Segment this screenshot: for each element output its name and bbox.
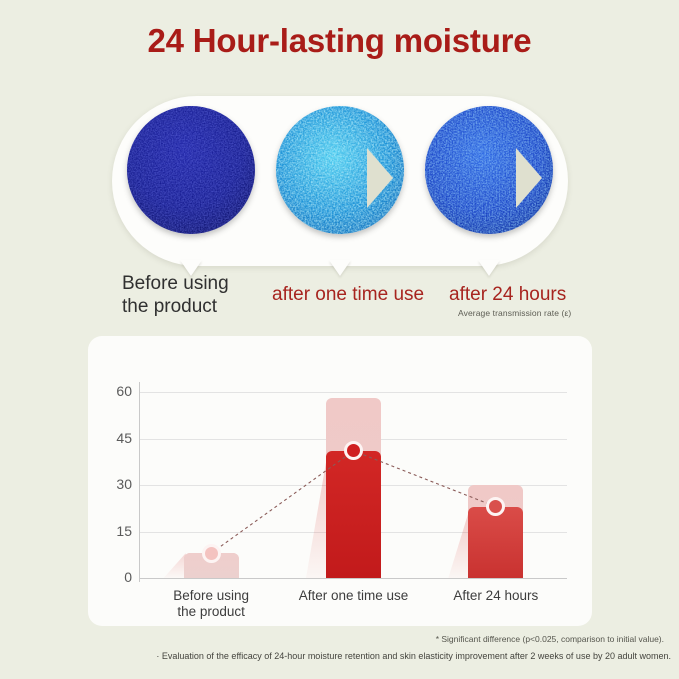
y-tick-label-30: 30 <box>92 476 132 492</box>
y-tick-label-45: 45 <box>92 430 132 446</box>
caption-before-line1: Before using <box>122 272 282 295</box>
photo-captions: Before using the product after one time … <box>0 272 679 334</box>
x-label-line2-0: the product <box>136 604 286 620</box>
y-axis-line <box>139 382 140 582</box>
photo-circles-row <box>112 96 568 266</box>
gridline-60 <box>140 392 567 393</box>
x-axis-label-2: After 24 hours <box>421 588 571 604</box>
caption-sublabel-transmission-rate: Average transmission rate (ε) <box>458 308 571 318</box>
caption-after-one-use: after one time use <box>272 283 442 306</box>
x-axis-label-1: After one time use <box>279 588 429 604</box>
arrow-right-icon-2 <box>516 148 542 208</box>
page-title: 24 Hour-lasting moisture <box>0 22 679 60</box>
footnote-evaluation: · Evaluation of the efficacy of 24-hour … <box>0 651 671 661</box>
y-tick-label-60: 60 <box>92 383 132 399</box>
micrograph-texture-0 <box>127 106 255 234</box>
bar-value-2[interactable] <box>468 507 523 578</box>
x-axis-line <box>139 578 567 579</box>
x-label-line1-0: Before using <box>136 588 286 604</box>
caption-before-line2: the product <box>122 295 282 318</box>
dark-navy-skin-micrograph <box>127 106 255 234</box>
photo-item-before <box>118 98 264 264</box>
caption-after-24-hours: after 24 hours <box>449 283 599 306</box>
arrow-right-icon-1 <box>367 148 393 208</box>
x-label-line1-2: After 24 hours <box>421 588 571 604</box>
data-marker-0[interactable] <box>202 544 221 563</box>
y-tick-label-0: 0 <box>92 569 132 585</box>
x-axis-label-0: Before usingthe product <box>136 588 286 620</box>
footnote-significance: * Significant difference (p<0.025, compa… <box>0 634 664 644</box>
y-tick-label-15: 15 <box>92 523 132 539</box>
bar-value-1[interactable] <box>326 451 381 578</box>
caption-before-using: Before using the product <box>122 272 282 318</box>
x-label-line1-1: After one time use <box>279 588 429 604</box>
